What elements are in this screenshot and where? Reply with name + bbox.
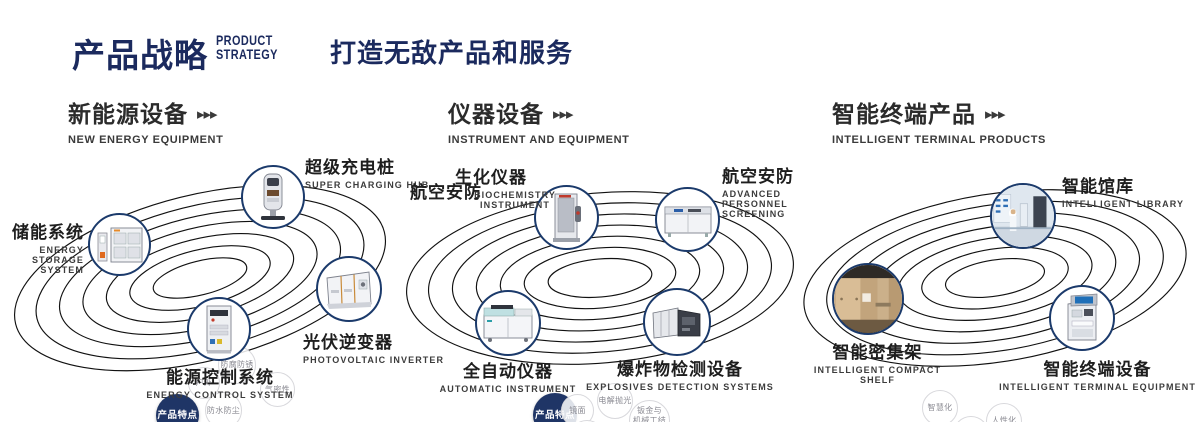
page-title-en: PRODUCT STRATEGY: [216, 33, 278, 61]
section-heading-new-energy: 新能源设备▸▸▸ NEW ENERGY EQUIPMENT: [68, 95, 223, 146]
node-intelligent-terminal-equipment[interactable]: [1049, 285, 1115, 351]
node-intelligent-compact-shelf[interactable]: [832, 263, 904, 335]
control-cabinet-icon: [202, 304, 236, 354]
chevron-right-icon: ▸▸▸: [985, 105, 1005, 123]
section-title-cn: 新能源设备: [68, 101, 188, 127]
node-explosives-detection[interactable]: [643, 288, 711, 356]
pv-inverter-icon: [323, 268, 375, 310]
feature-bubble: 镜面: [561, 394, 594, 422]
smart-library-icon: [992, 183, 1054, 249]
node-energy-storage[interactable]: [88, 213, 151, 276]
node-energy-control-system[interactable]: [187, 297, 251, 361]
chevron-right-icon: ▸▸▸: [553, 105, 573, 123]
battery-cabinet-icon: [96, 225, 144, 265]
label-explosives-detection: 爆炸物检测设备 EXPLOSIVES DETECTION SYSTEMS: [560, 355, 800, 392]
label-energy-control-system: 能源控制系统 ENERGY CONTROL SYSTEM: [108, 363, 332, 400]
page-subtitle: 打造无敌产品和服务: [330, 33, 573, 70]
feature-bubble: 数字化: [953, 416, 989, 422]
cluster-intelligent-terminal: 智慧化 数字化 人性化 产品特点 智能馆库: [790, 150, 1200, 410]
screening-machine-icon: [662, 201, 714, 239]
compact-shelf-icon: [834, 263, 902, 335]
node-super-charging-hub[interactable]: [241, 165, 305, 229]
cluster-instrument: 产品特点 镜面 电解抛光 零缺陷 钣金与 机械工结合 航空安防 生化仪器 BIO…: [400, 150, 800, 410]
page-title: 产品战略: [72, 29, 208, 77]
section-title-en: INTELLIGENT TERMINAL PRODUCTS: [832, 134, 1046, 146]
node-advanced-personnel-screening[interactable]: [655, 187, 720, 252]
node-photovoltaic-inverter[interactable]: [316, 256, 382, 322]
label-intelligent-compact-shelf: 智能密集架 INTELLIGENT COMPACT SHELF: [790, 338, 965, 385]
section-title-en: INSTRUMENT AND EQUIPMENT: [448, 134, 629, 146]
charging-pile-icon: [256, 172, 290, 222]
label-intelligent-library: 智能馆库 INTELLIGENT LIBRARY: [1062, 172, 1184, 209]
chevron-right-icon: ▸▸▸: [197, 105, 217, 123]
automatic-analyzer-icon: [481, 303, 535, 343]
label-advanced-personnel-screening: 航空安防 ADVANCED PERSONNEL SCREENING: [722, 162, 800, 219]
node-intelligent-library[interactable]: [990, 183, 1056, 249]
section-heading-intelligent: 智能终端产品▸▸▸ INTELLIGENT TERMINAL PRODUCTS: [832, 95, 1046, 146]
label-energy-storage: 储能系统 ENERGY STORAGE SYSTEM: [0, 218, 84, 275]
node-automatic-instrument[interactable]: [475, 290, 541, 356]
feature-bubble: 智慧化: [922, 390, 958, 422]
explosives-detector-icon: [650, 303, 704, 341]
label-intelligent-terminal-equipment: 智能终端设备 INTELLIGENT TERMINAL EQUIPMENT: [995, 355, 1200, 392]
label-biochemistry-instrument: 生化仪器 BIOCHEMISTRY INSTRUMENT: [455, 163, 575, 210]
cluster-new-energy: 产品特点 户外 防腐防锈 气密性 防水防尘 储能系统 ENERGY STORAG…: [0, 150, 400, 410]
section-title-cn: 仪器设备: [448, 101, 544, 127]
self-service-kiosk-icon: [1062, 292, 1102, 344]
section-heading-instrument: 仪器设备▸▸▸ INSTRUMENT AND EQUIPMENT: [448, 95, 629, 146]
section-title-cn: 智能终端产品: [832, 101, 976, 127]
section-title-en: NEW ENERGY EQUIPMENT: [68, 134, 223, 146]
product-strategy-infographic: 产品战略 PRODUCT STRATEGY 打造无敌产品和服务 新能源设备▸▸▸…: [0, 0, 1200, 422]
